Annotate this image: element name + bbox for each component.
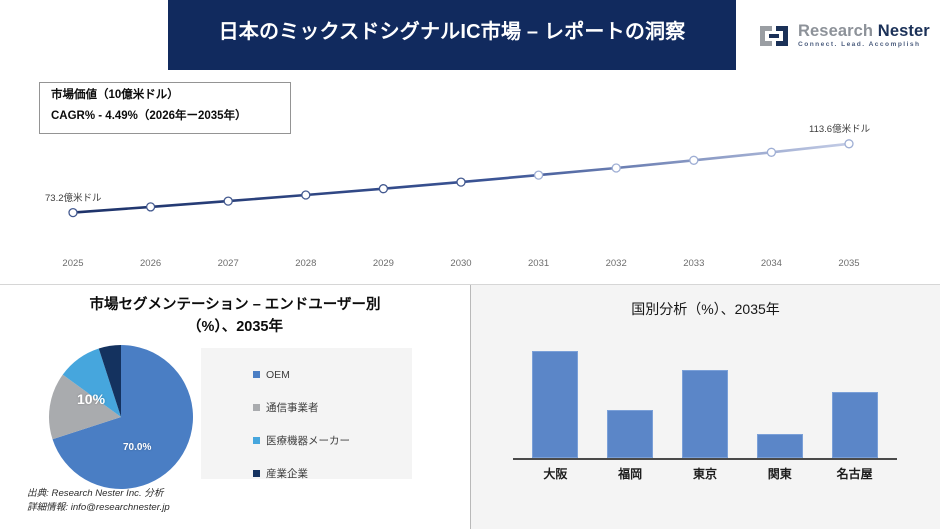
bar-column [832, 392, 878, 458]
line-data-point [224, 197, 232, 205]
source-line-1: 出典: Research Nester Inc. 分析 [27, 487, 170, 501]
pie-legend-item[interactable]: 通信事業者 [253, 393, 412, 422]
segmentation-title-line1: 市場セグメンテーション – エンドユーザー別 [25, 295, 445, 317]
segmentation-title-line2: （%）、2035年 [25, 317, 445, 339]
logo-word-research: Research [798, 22, 873, 40]
line-data-point [612, 164, 620, 172]
research-nester-logo: Research Nester Connect. Lead. Accomplis… [757, 14, 933, 58]
pie-legend-item[interactable]: 産業企業 [253, 459, 412, 488]
line-x-tick-label: 2031 [512, 258, 566, 269]
logo-wordmark: Research Nester [798, 23, 930, 40]
line-data-point [457, 178, 465, 186]
pie-legend-label: OEM [266, 369, 290, 381]
legend-swatch-icon [253, 470, 260, 477]
pie-legend-label: 医療機器メーカー [266, 433, 350, 448]
pie-slices [49, 345, 193, 489]
line-data-point [69, 209, 77, 217]
bar-x-tick-label: 名古屋 [810, 465, 900, 482]
line-x-tick-label: 2027 [201, 258, 255, 269]
line-x-tick-label: 2026 [124, 258, 178, 269]
bar-column [532, 351, 578, 458]
bar-chart-x-axis: 大阪福岡東京関東名古屋 [518, 465, 892, 487]
bar-column [607, 410, 653, 458]
segmentation-pie-chart: 70.0% 10% [42, 343, 200, 491]
logo-text: Research Nester Connect. Lead. Accomplis… [798, 23, 930, 49]
line-data-point [767, 148, 775, 156]
bar-column [682, 370, 728, 459]
market-value-label: 市場価値（10億米ドル） [51, 89, 280, 101]
logo-word-nester: Nester [878, 22, 930, 40]
bar-column [757, 434, 803, 458]
source-line-2: 詳細情報: info@researchnester.jp [27, 501, 170, 515]
line-x-tick-label: 2035 [822, 258, 876, 269]
legend-swatch-icon [253, 437, 260, 444]
regional-analysis-panel: 国別分析（%）、2035年 大阪福岡東京関東名古屋 [471, 285, 940, 529]
line-start-value-label: 73.2億米ドル [45, 190, 102, 204]
line-x-tick-label: 2034 [744, 258, 798, 269]
line-chart-svg [0, 120, 940, 260]
regional-analysis-title: 国別分析（%）、2035年 [471, 299, 940, 319]
header-banner: 日本のミックスドシグナルIC市場 – レポートの洞察 [168, 0, 736, 70]
line-data-point [302, 191, 310, 199]
pie-legend-item[interactable]: OEM [253, 360, 412, 389]
bar-chart-baseline [513, 458, 897, 460]
pie-label-minor: 10% [77, 391, 105, 407]
line-data-point [535, 171, 543, 179]
line-end-value-label: 113.6億米ドル [809, 121, 870, 135]
segmentation-title: 市場セグメンテーション – エンドユーザー別 （%）、2035年 [25, 295, 445, 339]
line-x-tick-label: 2025 [46, 258, 100, 269]
pie-svg [42, 343, 200, 491]
regional-bar-chart [518, 340, 892, 458]
line-x-tick-label: 2032 [589, 258, 643, 269]
line-data-point [379, 185, 387, 193]
line-data-point [690, 156, 698, 164]
report-infographic-page: 日本のミックスドシグナルIC市場 – レポートの洞察 Research Nest… [0, 0, 940, 529]
line-data-point [147, 203, 155, 211]
source-note: 出典: Research Nester Inc. 分析 詳細情報: info@r… [27, 487, 170, 515]
logo-tagline: Connect. Lead. Accomplish [798, 42, 930, 49]
line-x-tick-label: 2028 [279, 258, 333, 269]
linked-brackets-logo-icon [757, 23, 791, 49]
line-data-point [845, 140, 853, 148]
line-x-tick-label: 2033 [667, 258, 721, 269]
market-value-line-chart: 73.2億米ドル 113.6億米ドル 202520262027202820292… [0, 120, 940, 280]
pie-legend: OEM通信事業者医療機器メーカー産業企業 [201, 348, 412, 479]
legend-swatch-icon [253, 404, 260, 411]
page-title: 日本のミックスドシグナルIC市場 – レポートの洞察 [182, 20, 722, 46]
line-x-tick-label: 2029 [356, 258, 410, 269]
pie-legend-item[interactable]: 医療機器メーカー [253, 426, 412, 455]
legend-swatch-icon [253, 371, 260, 378]
line-chart-x-axis: 2025202620272028202920302031203220332034… [0, 258, 940, 280]
pie-legend-label: 産業企業 [266, 466, 308, 481]
line-x-tick-label: 2030 [434, 258, 488, 269]
pie-legend-label: 通信事業者 [266, 400, 319, 415]
pie-label-major: 70.0% [123, 442, 151, 453]
